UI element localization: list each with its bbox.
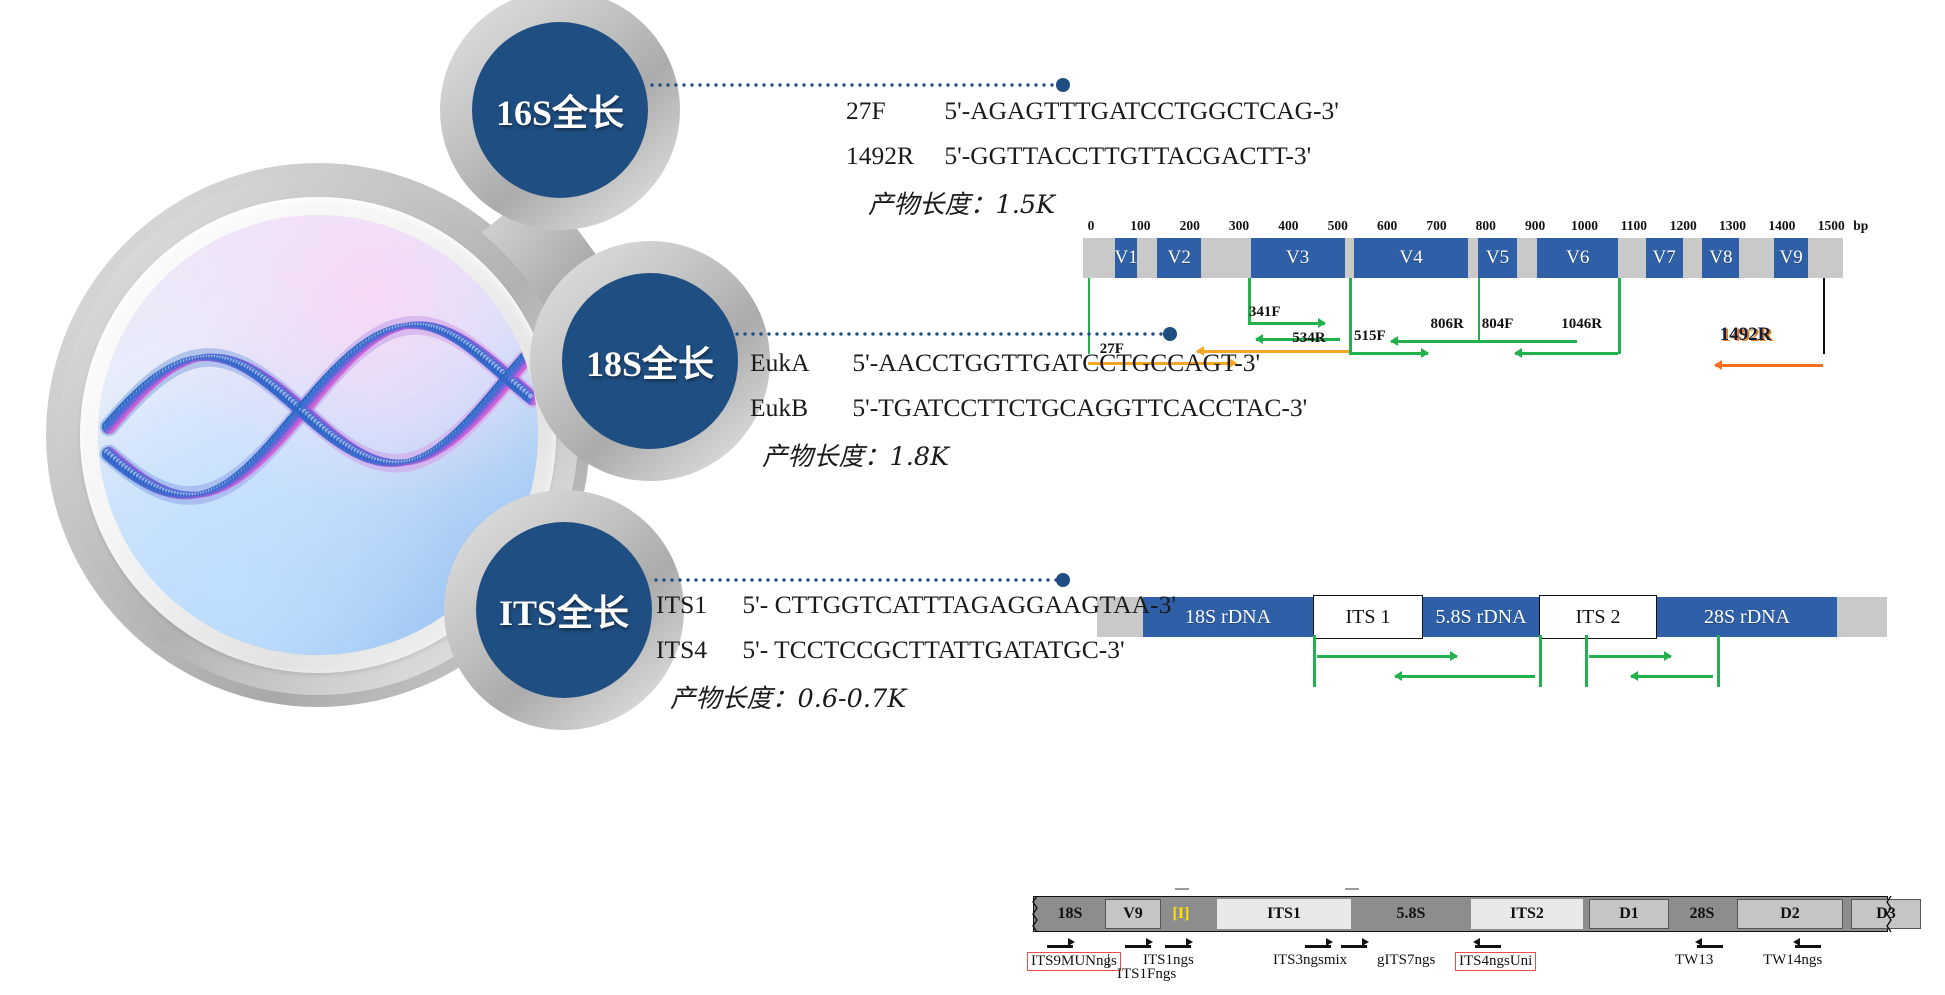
arrow-head: [1390, 336, 1398, 346]
arrow-head: [1664, 651, 1672, 661]
primer-guide-line: [1618, 278, 1621, 354]
primer-arrow-forward: [1589, 651, 1671, 661]
bracket-line: [1717, 635, 1720, 687]
chart-16s-variable-regions: 0100200300400500600700800900100011001200…: [1083, 218, 1898, 353]
axis-tick-300: 300: [1229, 218, 1249, 234]
arrow-head: [1714, 360, 1722, 370]
primer-row-16s-1: 27F 5'-AGAGTTTGATCCTGGCTCAG-3': [846, 98, 1339, 124]
rdna-backbone: 18S rDNAITS 15.8S rDNAITS 228S rDNA: [1097, 597, 1887, 637]
primer-hook: [1165, 936, 1191, 948]
hook-head: [1695, 938, 1702, 946]
variable-region-v5: V5: [1478, 238, 1517, 278]
primer-row-18s-1: EukA 5'-AACCTGGTTGATCCTGCCAGT-3': [750, 350, 1307, 376]
axis-tick-900: 900: [1525, 218, 1545, 234]
primer-hook: [1305, 936, 1331, 948]
primer-label-341f: 341F: [1249, 304, 1281, 321]
its-segment-d1: D1: [1589, 899, 1669, 929]
primer-label-804f: 804F: [1482, 316, 1514, 333]
hook-head: [1793, 938, 1800, 946]
primer-label-tw14ngs: TW14ngs: [1763, 952, 1822, 969]
primer-row-18s-2: EukB 5'-TGATCCTTCTGCAGGTTCACCTAC-3': [750, 395, 1307, 421]
variable-region-v9: V9: [1774, 238, 1809, 278]
arrow-head: [1514, 348, 1522, 358]
primer-seq-euka: 5'-AACCTGGTTGATCCTGCCAGT-3': [852, 348, 1260, 377]
hook-head: [1326, 938, 1333, 946]
arrow-head: [1630, 671, 1638, 681]
hook-head: [1473, 938, 1480, 946]
primer-hook: [1047, 936, 1073, 948]
connector-line-18s: [733, 332, 1173, 336]
primer-label-tw13: TW13: [1675, 952, 1713, 969]
backbone-break: [1032, 896, 1042, 934]
gene-backbone: V1V2V3V4V5V6V7V8V9: [1083, 238, 1843, 278]
primer-block-16s: 27F 5'-AGAGTTTGATCCTGGCTCAG-3' 1492R 5'-…: [846, 98, 1339, 221]
axis-tick-1000: 1000: [1571, 218, 1598, 234]
primer-seq-its1: 5'- CTTGGTCATTTAGAGGAAGTAA-3': [742, 590, 1176, 619]
connector-dots-its: [652, 578, 1066, 582]
primer-guide-line: [1823, 278, 1825, 354]
arrow-shaft: [1715, 364, 1824, 367]
infographic-cluster: 16S全长 18S全长 ITS全长: [20, 10, 740, 890]
primer-name-its1: ITS1: [656, 592, 736, 618]
badge-its-label: ITS全长: [499, 584, 629, 636]
variable-region-v8: V8: [1702, 238, 1739, 278]
chart-its-ngs-primer-map: 18SV9[I]ITS15.8SITS2D128SD2D3ITS9MUNngsI…: [1025, 888, 1905, 988]
primer-name-euka: EukA: [750, 350, 846, 376]
primer-label-1492r: 1492R: [1720, 324, 1772, 346]
variable-region-v1: V1: [1115, 238, 1137, 278]
axis-tick-1300: 1300: [1719, 218, 1746, 234]
primer-arrow: [1391, 336, 1576, 346]
badge-16s[interactable]: 16S全长: [472, 22, 648, 198]
rdna-segment-28s-rdna: 28S rDNA: [1657, 597, 1837, 637]
primer-arrow-reverse: [1395, 671, 1535, 681]
primer-hook: [1125, 936, 1151, 948]
axis-tick-600: 600: [1377, 218, 1397, 234]
its-segment-d2: D2: [1737, 899, 1843, 929]
arrow-shaft: [1395, 675, 1535, 678]
arrow-head: [1394, 671, 1402, 681]
primer-guide-line: [1478, 278, 1481, 340]
badge-16s-label: 16S全长: [496, 84, 624, 136]
its-segment-5-8s: 5.8S: [1355, 899, 1467, 929]
primer-row-its-1: ITS1 5'- CTTGGTCATTTAGAGGAAGTAA-3': [656, 592, 1176, 618]
primer-name-1492r: 1492R: [846, 143, 938, 169]
primer-hook: [1341, 936, 1367, 948]
primer-row-its-2: ITS4 5'- TCCTCCGCTTATTGATATGC-3': [656, 637, 1176, 663]
badge-18s[interactable]: 18S全长: [562, 273, 738, 449]
bracket-line: [1313, 635, 1316, 687]
primer-arrow: [1515, 348, 1619, 358]
axis-tick-100: 100: [1130, 218, 1150, 234]
arrow-shaft: [1631, 675, 1713, 678]
primer-block-its: ITS1 5'- CTTGGTCATTTAGAGGAAGTAA-3' ITS4 …: [656, 592, 1176, 715]
rdna-segment-its-1: ITS 1: [1313, 595, 1423, 639]
product-length-its: 产物长度：0.6-0.7K: [670, 678, 1176, 715]
product-length-16s: 产物长度：1.5K: [868, 184, 1339, 221]
primer-hook: [1795, 936, 1821, 948]
figure-canvas: 16S全长 18S全长 ITS全长 27F 5'-AGAGTTTGATCCTGG…: [0, 0, 1945, 995]
variable-region-v7: V7: [1646, 238, 1683, 278]
connector-knob-16s: [1056, 78, 1070, 92]
connector-dots-16s: [648, 83, 1066, 87]
tick-dash: [1345, 888, 1359, 890]
axis-tick-0: 0: [1088, 218, 1095, 234]
variable-region-v3: V3: [1251, 238, 1345, 278]
axis-ruler: 0100200300400500600700800900100011001200…: [1083, 218, 1843, 238]
primer-name-its4: ITS4: [656, 637, 736, 663]
product-length-18s: 产物长度：1.8K: [762, 436, 1307, 473]
rdna-segment-5-8s-rdna: 5.8S rDNA: [1423, 597, 1539, 637]
its-segment--i-: [I]: [1167, 899, 1195, 929]
primer-guide-line: [1349, 278, 1352, 354]
its-segment-28s: 28S: [1671, 899, 1733, 929]
arrow-head: [1421, 348, 1429, 358]
axis-tick-200: 200: [1180, 218, 1200, 234]
its-segment-18s: 18S: [1039, 899, 1101, 929]
primer-arrow: [1349, 348, 1428, 358]
primer-separator: |: [1107, 952, 1110, 969]
primer-seq-27f: 5'-AGAGTTTGATCCTGGCTCAG-3': [944, 96, 1339, 125]
its-segment-its2: ITS2: [1471, 899, 1583, 929]
primer-arrow-forward: [1317, 651, 1457, 661]
hook-head: [1362, 938, 1369, 946]
primer-name-27f: 27F: [846, 98, 938, 124]
chart-rdna-operon: 18S rDNAITS 15.8S rDNAITS 228S rDNA: [1097, 597, 1897, 687]
arrow-head: [1318, 318, 1326, 328]
arrow-shaft: [1248, 322, 1324, 325]
primer-label-gits7ngs: gITS7ngs: [1377, 952, 1435, 969]
bracket-line: [1539, 635, 1542, 687]
primer-label-534r: 534R: [1292, 330, 1325, 347]
primer-label-its3ngsmix: ITS3ngsmix: [1273, 952, 1347, 969]
primer-hook: [1697, 936, 1723, 948]
axis-unit-label: bp: [1853, 218, 1868, 234]
primer-block-18s: EukA 5'-AACCTGGTTGATCCTGCCAGT-3' EukB 5'…: [750, 350, 1307, 473]
primer-guide-line: [1088, 278, 1091, 354]
axis-tick-1500: 1500: [1818, 218, 1845, 234]
connector-dots-18s: [733, 332, 1173, 336]
tick-dash: [1175, 888, 1189, 890]
axis-tick-700: 700: [1426, 218, 1446, 234]
rdna-segment-its-2: ITS 2: [1539, 595, 1657, 639]
arrow-head: [1450, 651, 1458, 661]
badge-18s-label: 18S全长: [586, 335, 714, 387]
bracket-line: [1585, 635, 1588, 687]
axis-tick-1100: 1100: [1621, 218, 1647, 234]
primer-arrow: [1715, 360, 1824, 370]
variable-region-v4: V4: [1354, 238, 1468, 278]
arrow-shaft: [1589, 655, 1671, 658]
primer-label-its1ngs: ITS1ngs: [1143, 952, 1194, 969]
primer-row-16s-2: 1492R 5'-GGTTACCTTGTTACGACTT-3': [846, 143, 1339, 169]
connector-knob-18s: [1163, 327, 1177, 341]
primer-label-its4ngsuni: ITS4ngsUni: [1455, 952, 1536, 971]
hook-head: [1146, 938, 1153, 946]
primer-label-1046r: 1046R: [1561, 316, 1602, 333]
axis-tick-1400: 1400: [1768, 218, 1795, 234]
connector-line-16s: [648, 83, 1066, 87]
arrow-shaft: [1349, 352, 1428, 355]
variable-region-v2: V2: [1157, 238, 1201, 278]
variable-region-v6: V6: [1537, 238, 1618, 278]
primer-label-515f: 515F: [1354, 328, 1386, 345]
arrow-shaft: [1515, 352, 1619, 355]
backbone-break: [1886, 896, 1896, 934]
arrow-head: [1255, 334, 1263, 344]
primer-seq-eukb: 5'-TGATCCTTCTGCAGGTTCACCTAC-3': [852, 393, 1307, 422]
arrow-shaft: [1391, 340, 1576, 343]
its-segment-v9: V9: [1105, 899, 1161, 929]
connector-knob-its: [1056, 573, 1070, 587]
arrow-shaft: [1317, 655, 1457, 658]
its-segment-its1: ITS1: [1217, 899, 1351, 929]
connector-line-its: [652, 578, 1066, 582]
axis-tick-800: 800: [1476, 218, 1496, 234]
axis-tick-400: 400: [1278, 218, 1298, 234]
primer-seq-its4: 5'- TCCTCCGCTTATTGATATGC-3': [742, 635, 1124, 664]
axis-tick-1200: 1200: [1670, 218, 1697, 234]
hook-head: [1186, 938, 1193, 946]
primer-name-eukb: EukB: [750, 395, 846, 421]
axis-tick-500: 500: [1328, 218, 1348, 234]
primer-arrow-reverse: [1631, 671, 1713, 681]
primer-seq-1492r: 5'-GGTTACCTTGTTACGACTT-3': [944, 141, 1311, 170]
primer-label-806r: 806R: [1430, 316, 1463, 333]
primer-hook: [1475, 936, 1501, 948]
badge-its[interactable]: ITS全长: [476, 522, 652, 698]
hook-head: [1068, 938, 1075, 946]
